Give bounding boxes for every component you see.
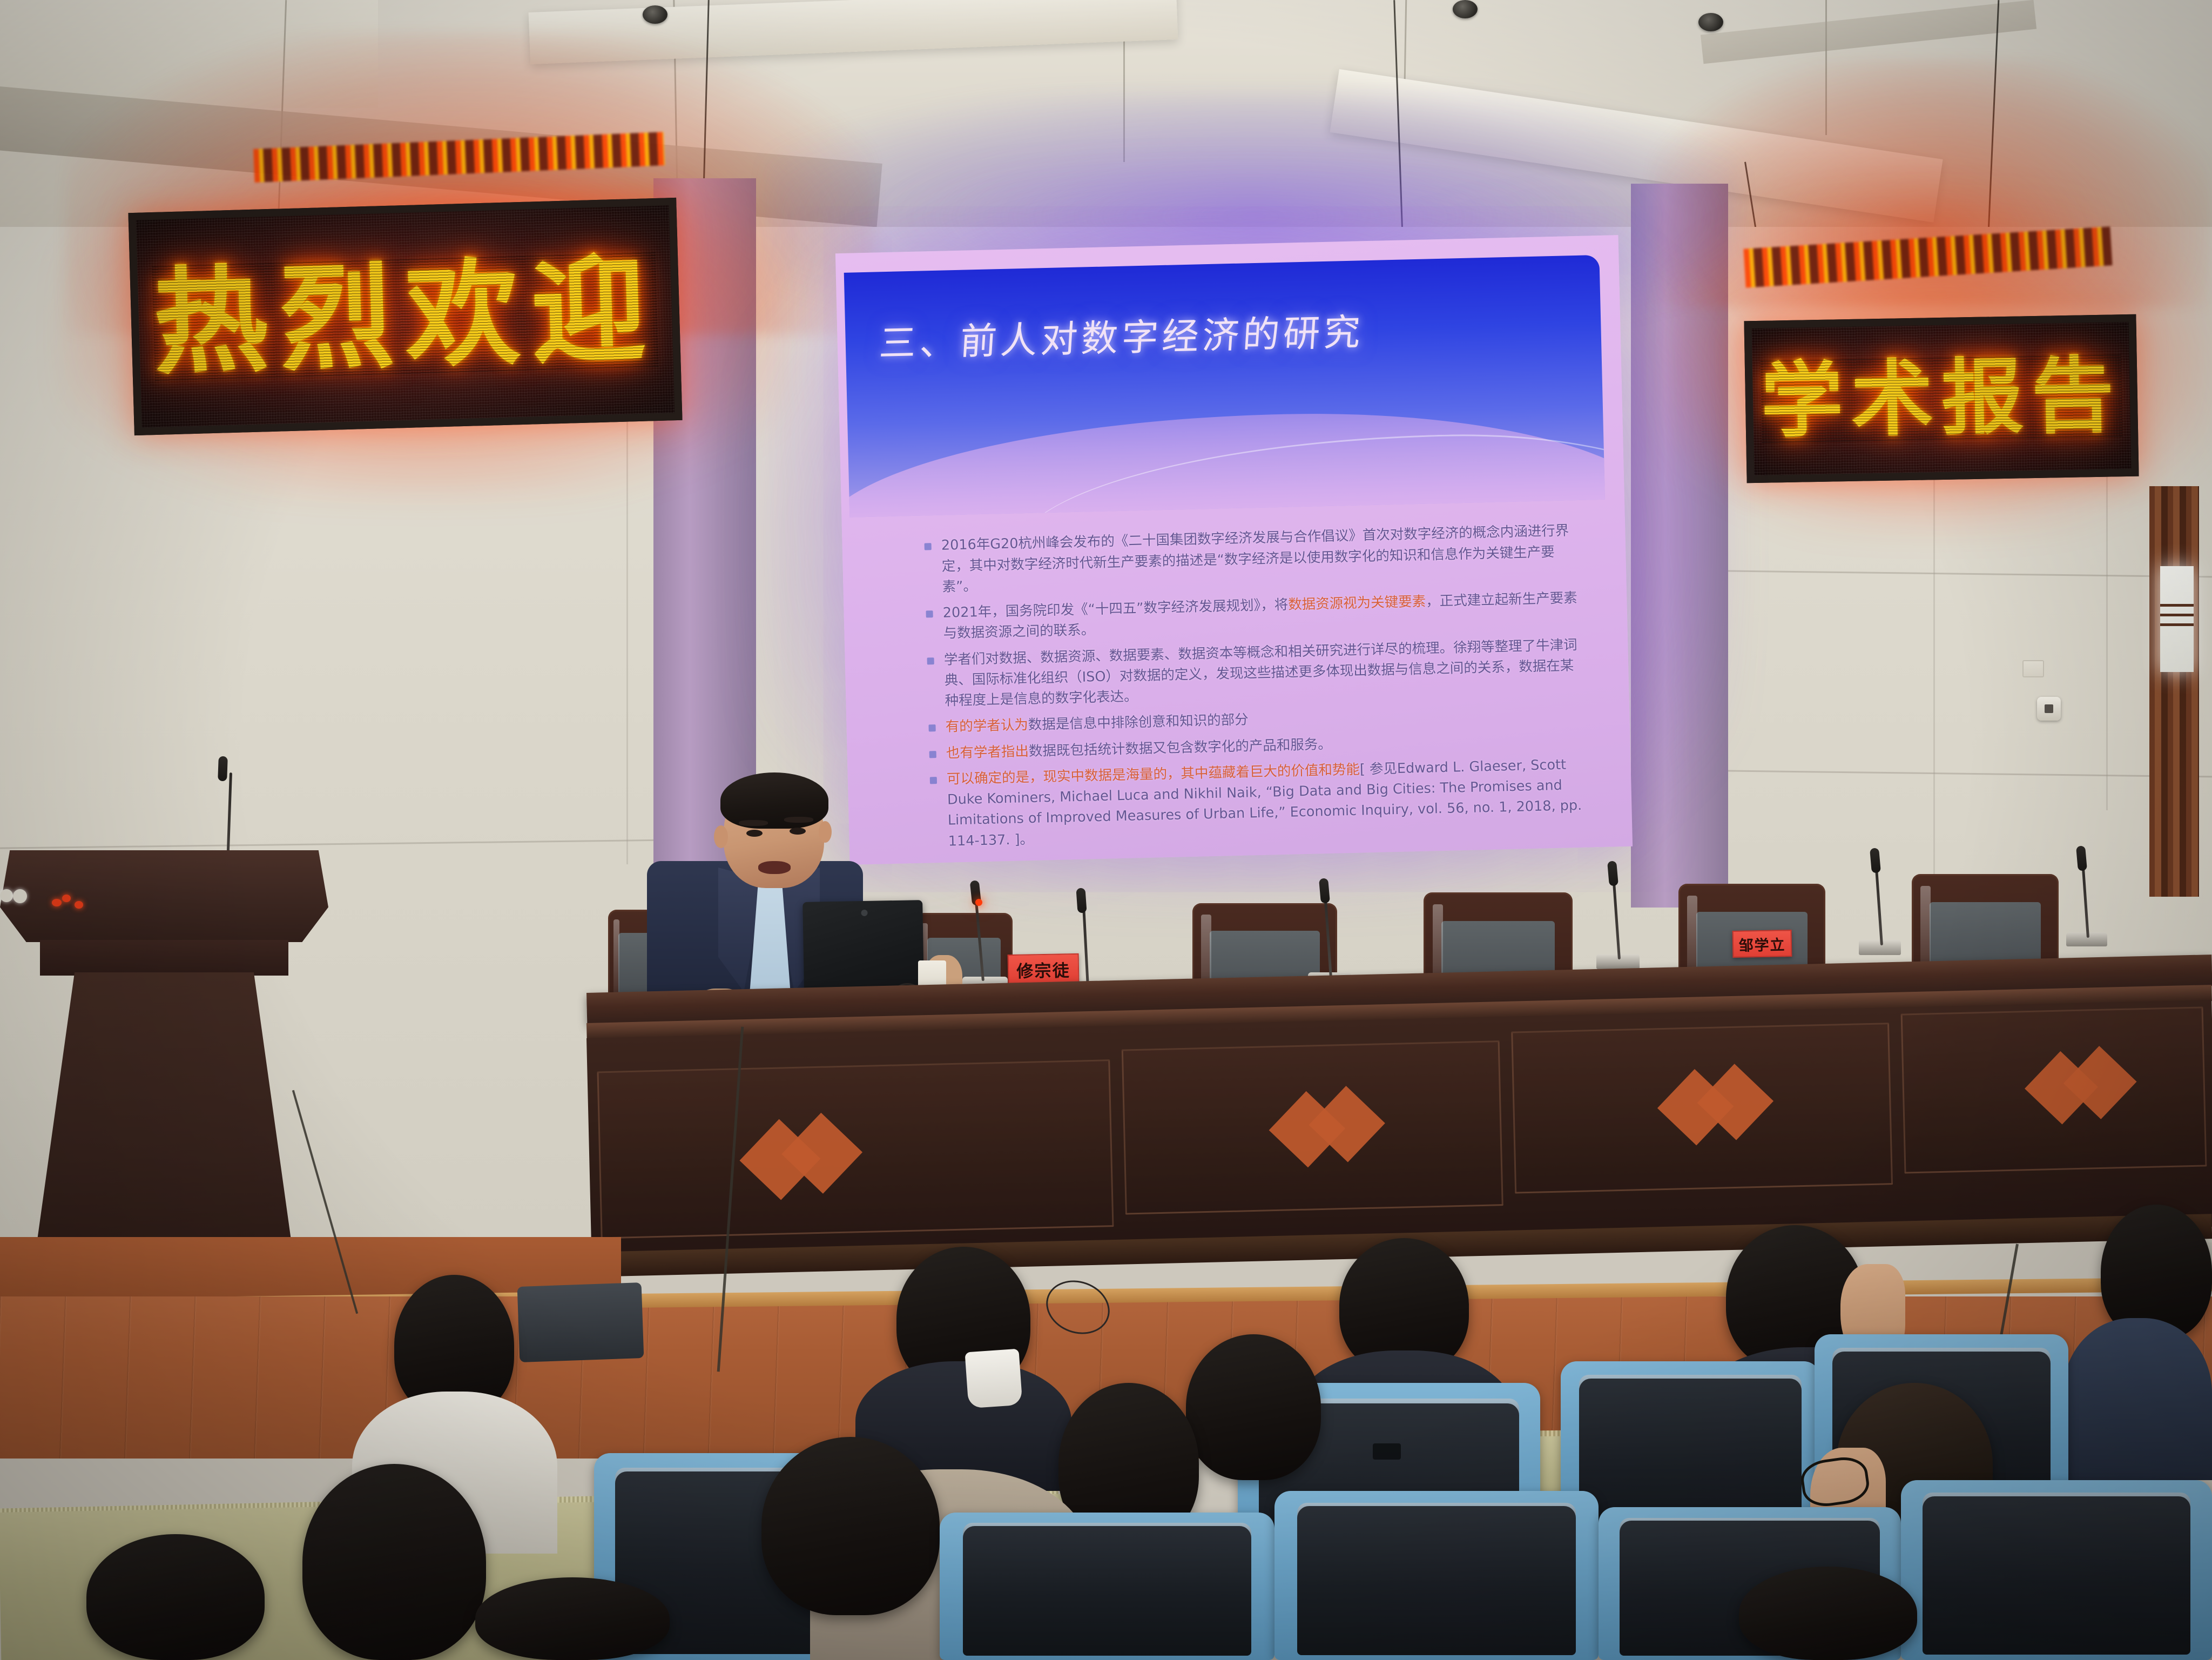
presentation-slide: 三、前人对数字经济的研究 2016年G20杭州峰会发布的《二十国集团数字经济发展… bbox=[835, 235, 1633, 865]
ceiling-spotlight bbox=[1698, 13, 1723, 31]
nameplate: 邹学立 bbox=[1732, 930, 1792, 958]
wall-pillar-right bbox=[1631, 184, 1728, 908]
audience-shoulders bbox=[2063, 1318, 2212, 1480]
bullet-marker-icon bbox=[926, 610, 933, 617]
nameplate-text: 邹学立 bbox=[1738, 933, 1785, 955]
bullet-marker-icon bbox=[929, 751, 936, 758]
slide-header-band bbox=[844, 255, 1605, 518]
slide-bullet: 学者们对数据、数据资源、数据要素、数据资本等概念和相关研究进行详尽的梳理。徐翔等… bbox=[927, 634, 1586, 711]
slide-bullet-text: 可以确定的是，现实中数据是海量的，其中蕴藏着巨大的价值和势能[ 参见Edward… bbox=[947, 754, 1589, 852]
ceiling-spotlight bbox=[643, 5, 667, 24]
audience-seat[interactable] bbox=[1901, 1480, 2212, 1660]
slide-bullet-text: 学者们对数据、数据资源、数据要素、数据资本等概念和相关研究进行详尽的梳理。徐翔等… bbox=[943, 634, 1586, 711]
slide-bullet: 2021年，国务院印发《“十四五”数字经济发展规划》，将数据资源视为关键要素，正… bbox=[926, 588, 1584, 644]
audience-head bbox=[86, 1534, 265, 1660]
led-banner-right: 学术报告 bbox=[1744, 314, 2139, 483]
power-adapter bbox=[2037, 697, 2061, 721]
led-banner-left-text: 热烈欢迎 bbox=[152, 252, 658, 381]
window-curtain bbox=[2149, 486, 2199, 897]
projection-screen: 三、前人对数字经济的研究 2016年G20杭州峰会发布的《二十国集团数字经济发展… bbox=[835, 235, 1633, 865]
led-banner-left: 热烈欢迎 bbox=[128, 198, 682, 435]
audience-seat[interactable] bbox=[940, 1513, 1274, 1660]
slide-bullet: 可以确定的是，现实中数据是海量的，其中蕴藏着巨大的价值和势能[ 参见Edward… bbox=[930, 754, 1589, 852]
audience-head bbox=[475, 1577, 670, 1660]
audience-head bbox=[302, 1464, 486, 1660]
led-banner-right-text: 学术报告 bbox=[1760, 354, 2122, 443]
window bbox=[2160, 566, 2194, 672]
audience-head bbox=[761, 1437, 940, 1615]
slide-bullet-text: 2021年，国务院印发《“十四五”数字经济发展规划》，将数据资源视为关键要素，正… bbox=[942, 588, 1584, 644]
bullet-marker-icon bbox=[925, 543, 932, 550]
slide-bullet-text: 2016年G20杭州峰会发布的《二十国集团数字经济发展与合作倡议》首次对数字经济… bbox=[941, 520, 1583, 597]
lecture-hall-photo: 热烈欢迎 学术报告 三、前人对数字经济的研究 2016年G20杭州峰会发布的《二… bbox=[0, 0, 2212, 1660]
bullet-marker-icon bbox=[927, 657, 934, 664]
face-mask bbox=[965, 1349, 1022, 1409]
slide-bullet-list: 2016年G20杭州峰会发布的《二十国集团数字经济发展与合作倡议》首次对数字经济… bbox=[924, 520, 1589, 857]
wall-outlet-plate bbox=[2022, 660, 2044, 677]
shoulder-bag bbox=[517, 1282, 644, 1362]
audience-head bbox=[1739, 1567, 1917, 1660]
ceiling-spotlight bbox=[1453, 0, 1478, 18]
audience-head bbox=[1186, 1334, 1321, 1480]
bullet-marker-icon bbox=[929, 724, 936, 731]
nameplate-text: 修宗徒 bbox=[1016, 957, 1070, 982]
slide-bullet: 2016年G20杭州峰会发布的《二十国集团数字经济发展与合作倡议》首次对数字经济… bbox=[924, 520, 1583, 597]
audience-seat[interactable] bbox=[1274, 1491, 1599, 1660]
nameplate: 修宗徒 bbox=[1008, 953, 1080, 985]
bullet-marker-icon bbox=[930, 777, 937, 784]
